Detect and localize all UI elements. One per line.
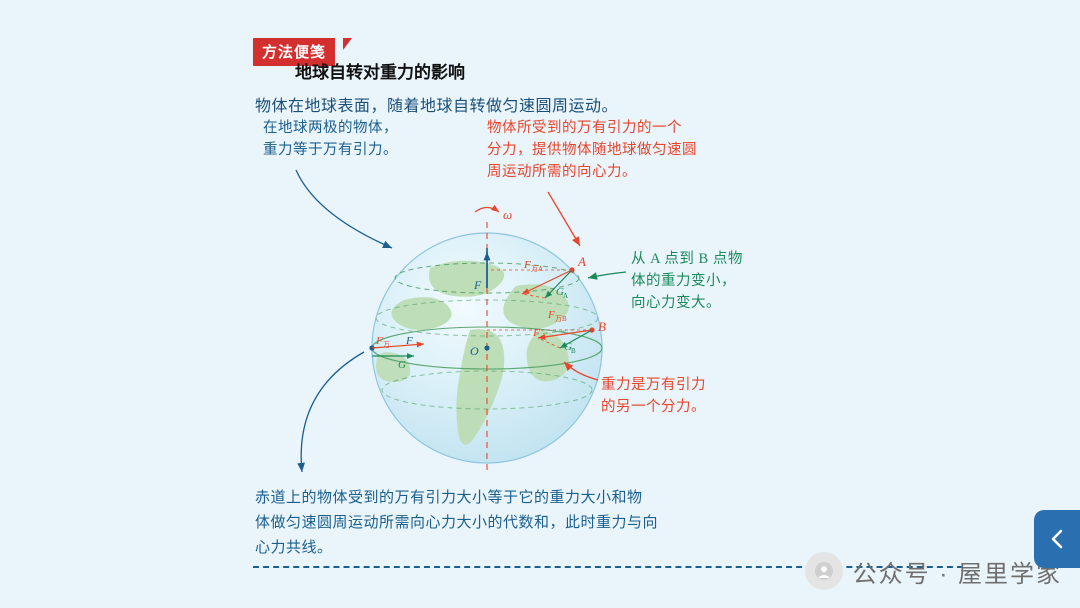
fb-total-sub: 万B xyxy=(555,315,567,323)
center-label: O xyxy=(470,344,479,358)
fa-total-sub: 万A xyxy=(531,265,543,273)
watermark-avatar-icon xyxy=(805,552,843,590)
fa-total-label: F xyxy=(523,259,531,271)
feq-label: F xyxy=(375,335,383,347)
feq-sub: 万 xyxy=(383,341,390,349)
feq2-label: F xyxy=(405,335,413,347)
back-button[interactable] xyxy=(1034,510,1080,568)
fb-centripetal-label: F xyxy=(532,327,540,339)
omega-label: ω xyxy=(503,207,512,222)
rotation-omega: ω xyxy=(475,207,512,222)
ga-sub: A xyxy=(563,292,568,300)
point-b-label: B xyxy=(598,319,606,334)
geq-label: G xyxy=(398,359,406,371)
pole-force-label: F xyxy=(473,278,482,292)
watermark-text: 公众号 · 屋里学家 xyxy=(853,554,1062,589)
point-a-label: A xyxy=(577,254,586,269)
gb-sub: B xyxy=(571,347,576,355)
earth-diagram: ω F A F 万A G A B F 万B G B F xyxy=(0,0,1080,608)
chevron-left-icon xyxy=(1048,528,1066,550)
fb-total-label: F xyxy=(547,309,555,321)
footer-watermark: 公众号 · 屋里学家 xyxy=(805,552,1062,590)
